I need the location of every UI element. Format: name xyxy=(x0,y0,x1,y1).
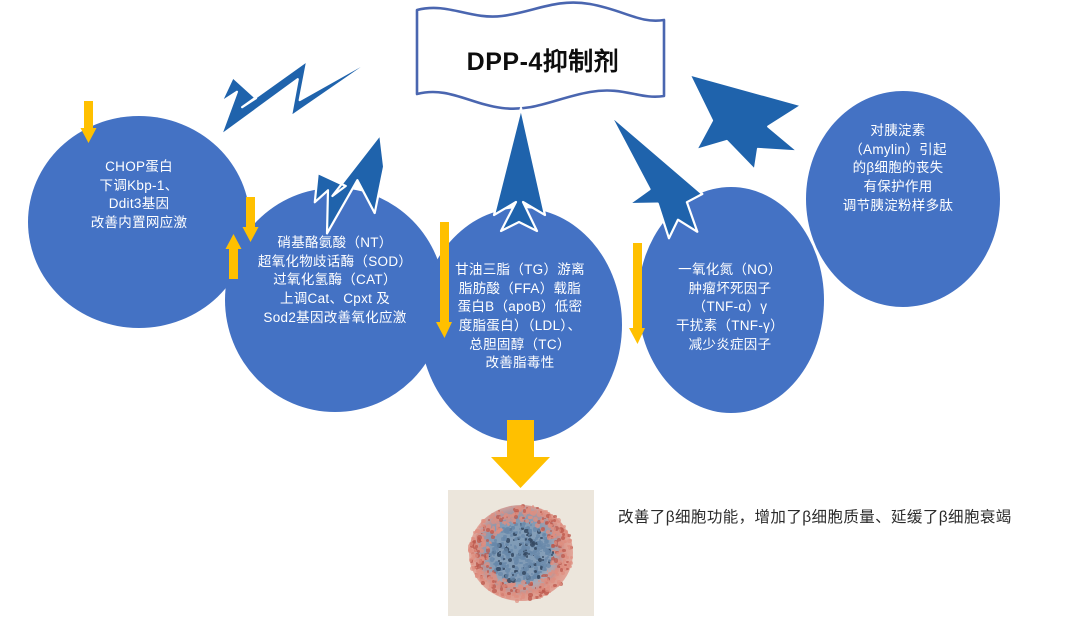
islet-speck xyxy=(469,542,473,546)
islet-speck xyxy=(504,522,506,524)
islet-speck xyxy=(566,556,569,559)
islet-speck xyxy=(493,558,495,560)
islet-speck xyxy=(515,531,517,533)
islet-speck xyxy=(530,511,533,514)
arrow-banner-to-amylin xyxy=(689,70,803,172)
arrow-down-er-stress xyxy=(81,101,97,143)
islet-speck xyxy=(519,545,521,547)
islet-speck xyxy=(507,523,509,525)
islet-speck xyxy=(562,533,565,536)
islet-speck xyxy=(479,568,482,571)
islet-speck xyxy=(515,599,519,603)
islet-speck xyxy=(481,543,484,546)
islet-speck xyxy=(536,507,538,509)
circle-inflammation-label: 一氧化氮（NO） 肿瘤坏死因子 （TNF-α）γ 干扰素（TNF-γ） 减少炎症… xyxy=(650,261,810,354)
islet-speck xyxy=(566,568,568,570)
islet-speck xyxy=(503,529,506,532)
arrow-down-inflammation xyxy=(629,243,645,344)
circle-er-stress-label: CHOP蛋白 下调Kbp-1、 Ddit3基因 改善内置网应激 xyxy=(30,158,248,233)
circle-lipotoxicity-label: 甘油三脂（TG）游离 脂肪酸（FFA）载脂 蛋白B（apoB）低密 度脂蛋白）（… xyxy=(440,261,600,373)
islet-speck xyxy=(512,592,516,596)
islet-speck xyxy=(551,544,554,547)
arrow-banner-to-inflammation xyxy=(604,115,706,240)
islet-speck xyxy=(527,565,530,568)
islet-speck xyxy=(483,529,485,531)
islet-speck xyxy=(485,580,487,582)
islet-speck xyxy=(503,537,507,541)
islet-speck xyxy=(557,580,561,584)
islet-speck xyxy=(524,552,527,555)
islet-speck xyxy=(506,583,511,588)
islet-speck xyxy=(502,555,504,557)
islet-speck xyxy=(537,575,541,579)
islet-speck xyxy=(514,545,516,547)
islet-speck xyxy=(510,544,512,546)
islet-speck xyxy=(561,554,565,558)
islet-speck xyxy=(514,524,516,526)
islet-speck xyxy=(507,592,511,596)
arrow-lipotoxicity-to-photo xyxy=(491,420,550,488)
banner-title: DPP-4抑制剂 xyxy=(430,42,656,78)
islet-speck xyxy=(562,549,565,552)
islet-speck xyxy=(545,587,550,592)
islet-speck xyxy=(512,565,514,567)
islet-speck xyxy=(503,558,505,560)
summary-caption: 改善了β细胞功能，增加了β细胞质量、延缓了β细胞衰竭 xyxy=(618,506,1070,529)
islet-speck xyxy=(505,568,510,573)
islet-speck xyxy=(555,517,557,519)
islet-speck xyxy=(534,597,536,599)
islet-speck xyxy=(520,523,524,527)
islet-speck xyxy=(542,559,544,561)
islet-speck xyxy=(479,576,483,580)
islet-speck xyxy=(489,567,491,569)
islet-speck xyxy=(496,567,500,571)
arrow-banner-to-er-stress xyxy=(212,50,389,135)
islet-speck xyxy=(538,580,540,582)
islet-speck xyxy=(535,537,537,539)
pancreatic-islet-image xyxy=(448,490,594,616)
islet-speck xyxy=(534,547,537,550)
islet-speck xyxy=(509,528,512,531)
circle-amylin-label: 对胰淀素 （Amylin）引起 的β细胞的丧失 有保护作用 调节胰淀粉样多肽 xyxy=(800,122,996,215)
islet-speck xyxy=(556,573,559,576)
islet-speck xyxy=(492,580,495,583)
islet-speck xyxy=(510,576,515,581)
islet-speck xyxy=(507,564,509,566)
islet-speck xyxy=(552,551,555,554)
diagram-canvas: DPP-4抑制剂 xyxy=(0,0,1080,622)
islet-speck xyxy=(496,530,500,534)
islet-speck xyxy=(477,559,482,564)
islet-speck xyxy=(522,593,525,596)
islet-speck xyxy=(468,547,472,551)
islet-speck xyxy=(499,562,502,565)
islet-speck xyxy=(483,521,485,523)
islet-speck xyxy=(517,589,520,592)
islet-speck xyxy=(539,571,541,573)
islet-speck xyxy=(519,562,521,564)
islet-speck xyxy=(541,527,545,531)
islet-speck xyxy=(515,580,517,582)
islet-speck xyxy=(499,518,503,522)
islet-speck xyxy=(518,584,521,587)
islet-speck xyxy=(553,536,555,538)
islet-speck xyxy=(534,570,537,573)
islet-speck xyxy=(560,523,562,525)
islet-speck xyxy=(505,574,509,578)
islet-speck xyxy=(533,562,535,564)
islet-speck xyxy=(504,593,507,596)
islet-speck xyxy=(491,585,493,587)
arrow-banner-to-lipotoxicity xyxy=(494,108,545,231)
islet-speck xyxy=(496,511,500,515)
islet-speck xyxy=(563,525,566,528)
islet-speck xyxy=(569,561,573,565)
islet-speck xyxy=(487,570,490,573)
islet-speck xyxy=(490,530,494,534)
islet-speck xyxy=(507,514,511,518)
islet-speck xyxy=(471,556,475,560)
islet-speck xyxy=(500,587,504,591)
islet-speck xyxy=(517,578,521,582)
islet-speck xyxy=(521,546,526,551)
islet-speck xyxy=(522,517,524,519)
islet-speck xyxy=(538,597,540,599)
islet-speck xyxy=(533,517,537,521)
islet-speck xyxy=(481,581,485,585)
islet-speck xyxy=(521,534,525,538)
islet-speck xyxy=(554,558,559,563)
arrow-banner-to-oxidative-stress xyxy=(309,106,405,234)
islet-speck xyxy=(523,587,526,590)
islet-speck xyxy=(515,537,518,540)
islet-speck xyxy=(526,508,530,512)
islet-speck xyxy=(541,586,544,589)
islet-speck xyxy=(528,596,533,601)
islet-speck xyxy=(525,559,528,562)
islet-speck xyxy=(513,519,516,522)
islet-speck xyxy=(520,555,524,559)
islet-speck xyxy=(516,559,518,561)
islet-speck xyxy=(491,551,495,555)
islet-speck xyxy=(496,581,499,584)
islet-speck xyxy=(526,585,529,588)
islet-speck xyxy=(530,582,534,586)
islet-speck xyxy=(491,513,495,517)
islet-speck xyxy=(498,572,503,577)
islet-speck xyxy=(486,528,490,532)
islet-speck xyxy=(526,546,530,550)
circle-oxidative-stress-label: 硝基酪氨酸（NT） 超氧化物歧话酶（SOD） 过氧化氢酶（CAT） 上调Cat、… xyxy=(228,234,442,327)
islet-speck xyxy=(549,515,552,518)
islet-speck xyxy=(472,566,475,569)
